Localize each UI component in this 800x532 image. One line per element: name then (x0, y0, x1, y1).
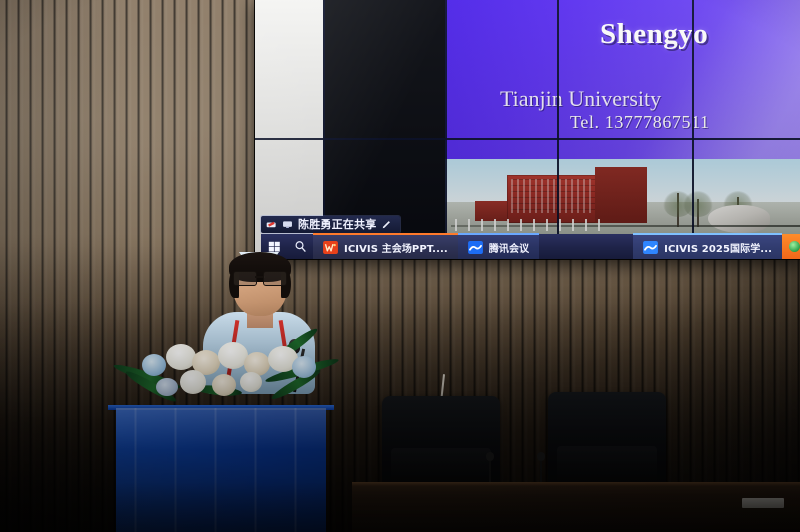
taskbar-item-icivis-2025[interactable]: ICIVIS 2025国际学... (633, 233, 782, 259)
slide-telephone: Tel. 13777867511 (570, 112, 710, 133)
panel-table (352, 482, 800, 532)
table-microphone-left (489, 458, 491, 484)
tencent-meeting-icon (643, 241, 658, 254)
taskbar-item-label: ICIVIS 主会场PPT.... (344, 240, 448, 255)
flower-lily-5 (240, 372, 262, 392)
lectern-reflection (116, 408, 326, 532)
panel-table-area (352, 382, 800, 532)
share-status-text: 陈胜勇正在共享 (298, 219, 376, 230)
screen-share-notification[interactable]: 陈胜勇正在共享 (261, 216, 400, 233)
floral-arrangement (120, 338, 330, 404)
presenter-glasses-icon (233, 271, 287, 284)
monitor-icon (282, 219, 293, 230)
flower-lily-1 (166, 344, 196, 370)
taskbar-tray-status-button[interactable] (782, 234, 800, 259)
presentation-slide: Shengyo Tianjin University Tel. 13777867… (445, 0, 800, 259)
flower-hydrangea (156, 378, 178, 396)
taskbar-item-wps-ppt[interactable]: ICIVIS 主会场PPT.... (313, 233, 458, 259)
flower-blue-1 (142, 354, 166, 376)
tray-status-icon (789, 241, 800, 252)
conference-room-photo: Shengyo Tianjin University Tel. 13777867… (0, 0, 800, 532)
pen-annotate-icon[interactable] (381, 219, 392, 230)
windows-start-icon (268, 240, 281, 253)
screen-share-icon (266, 219, 277, 230)
taskbar-item-tencent-meeting[interactable]: 腾讯会议 (458, 233, 539, 259)
video-wall-display[interactable]: Shengyo Tianjin University Tel. 13777867… (255, 0, 800, 259)
photo-tree-1 (677, 193, 679, 227)
lectern-front-panel (116, 408, 326, 532)
table-edge-highlight (352, 482, 800, 486)
taskbar-item-label: 腾讯会议 (489, 240, 529, 255)
flower-blue-2 (292, 356, 316, 378)
photo-tree-2 (697, 199, 699, 227)
slide-affiliation: Tianjin University (500, 86, 661, 112)
tencent-meeting-icon (468, 241, 483, 254)
taskbar-item-label: ICIVIS 2025国际学... (664, 240, 772, 255)
panel-chair-right[interactable] (548, 392, 666, 492)
photo-stone-sculpture (708, 205, 770, 233)
table-microphone-right (540, 458, 542, 484)
search-icon (294, 240, 307, 253)
desk-nameplate (742, 498, 784, 508)
taskbar-gap (539, 234, 633, 259)
panel-chair-left[interactable] (382, 396, 500, 492)
photo-bollards (455, 219, 605, 231)
wps-office-icon (323, 241, 338, 254)
slide-campus-photo (445, 159, 800, 239)
photo-building-tower (595, 167, 647, 223)
windows-taskbar[interactable]: ICIVIS 主会场PPT.... 腾讯会议 ICIVIS 2025国际学... (261, 234, 800, 259)
slide-presenter-name: Shengyo (600, 18, 708, 51)
flower-rose-3 (212, 374, 236, 396)
flower-lily-4 (180, 370, 206, 394)
